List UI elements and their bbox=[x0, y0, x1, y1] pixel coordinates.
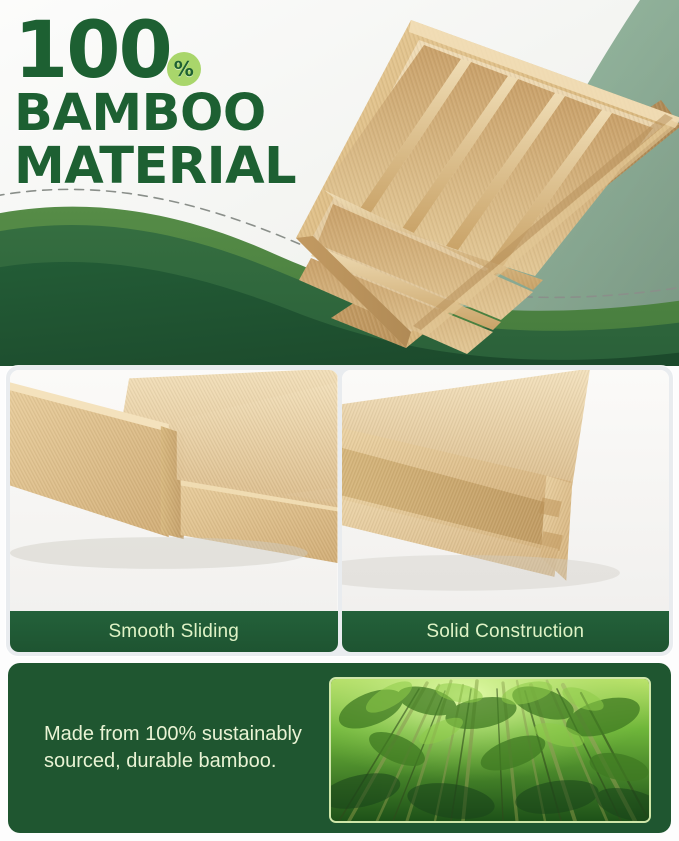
headline-number: 100 bbox=[14, 18, 171, 85]
smooth-sliding-photo bbox=[10, 370, 338, 611]
banner-text: Made from 100% sustainably sourced, dura… bbox=[44, 721, 334, 775]
bamboo-forest-illustration bbox=[331, 679, 649, 821]
headline-line-bamboo: BAMBOO bbox=[14, 88, 296, 140]
feature-panel-solid-construction: Solid Construction bbox=[342, 370, 670, 652]
bottom-banner: Made from 100% sustainably sourced, dura… bbox=[8, 663, 671, 833]
caption-smooth-sliding: Smooth Sliding bbox=[10, 611, 338, 652]
sliding-joint-illustration bbox=[10, 370, 338, 611]
corner-joint-illustration bbox=[342, 370, 670, 611]
feature-panel-smooth-sliding: Smooth Sliding bbox=[10, 370, 338, 652]
percent-symbol: % bbox=[174, 59, 194, 79]
drawer-organizer-illustration bbox=[261, 8, 679, 366]
caption-solid-construction: Solid Construction bbox=[342, 611, 670, 652]
feature-panels: Smooth Sliding bbox=[6, 366, 673, 656]
bamboo-forest-photo bbox=[329, 677, 651, 823]
headline-row-number: 100 % bbox=[14, 18, 296, 86]
headline-block: 100 % BAMBOO MATERIAL bbox=[14, 18, 296, 193]
infographic-page: 100 % BAMBOO MATERIAL bbox=[0, 0, 679, 841]
solid-construction-photo bbox=[342, 370, 670, 611]
hero-section: 100 % BAMBOO MATERIAL bbox=[0, 0, 679, 366]
headline-line-material: MATERIAL bbox=[14, 141, 296, 193]
percent-badge: % bbox=[167, 52, 201, 86]
product-image bbox=[261, 8, 679, 366]
